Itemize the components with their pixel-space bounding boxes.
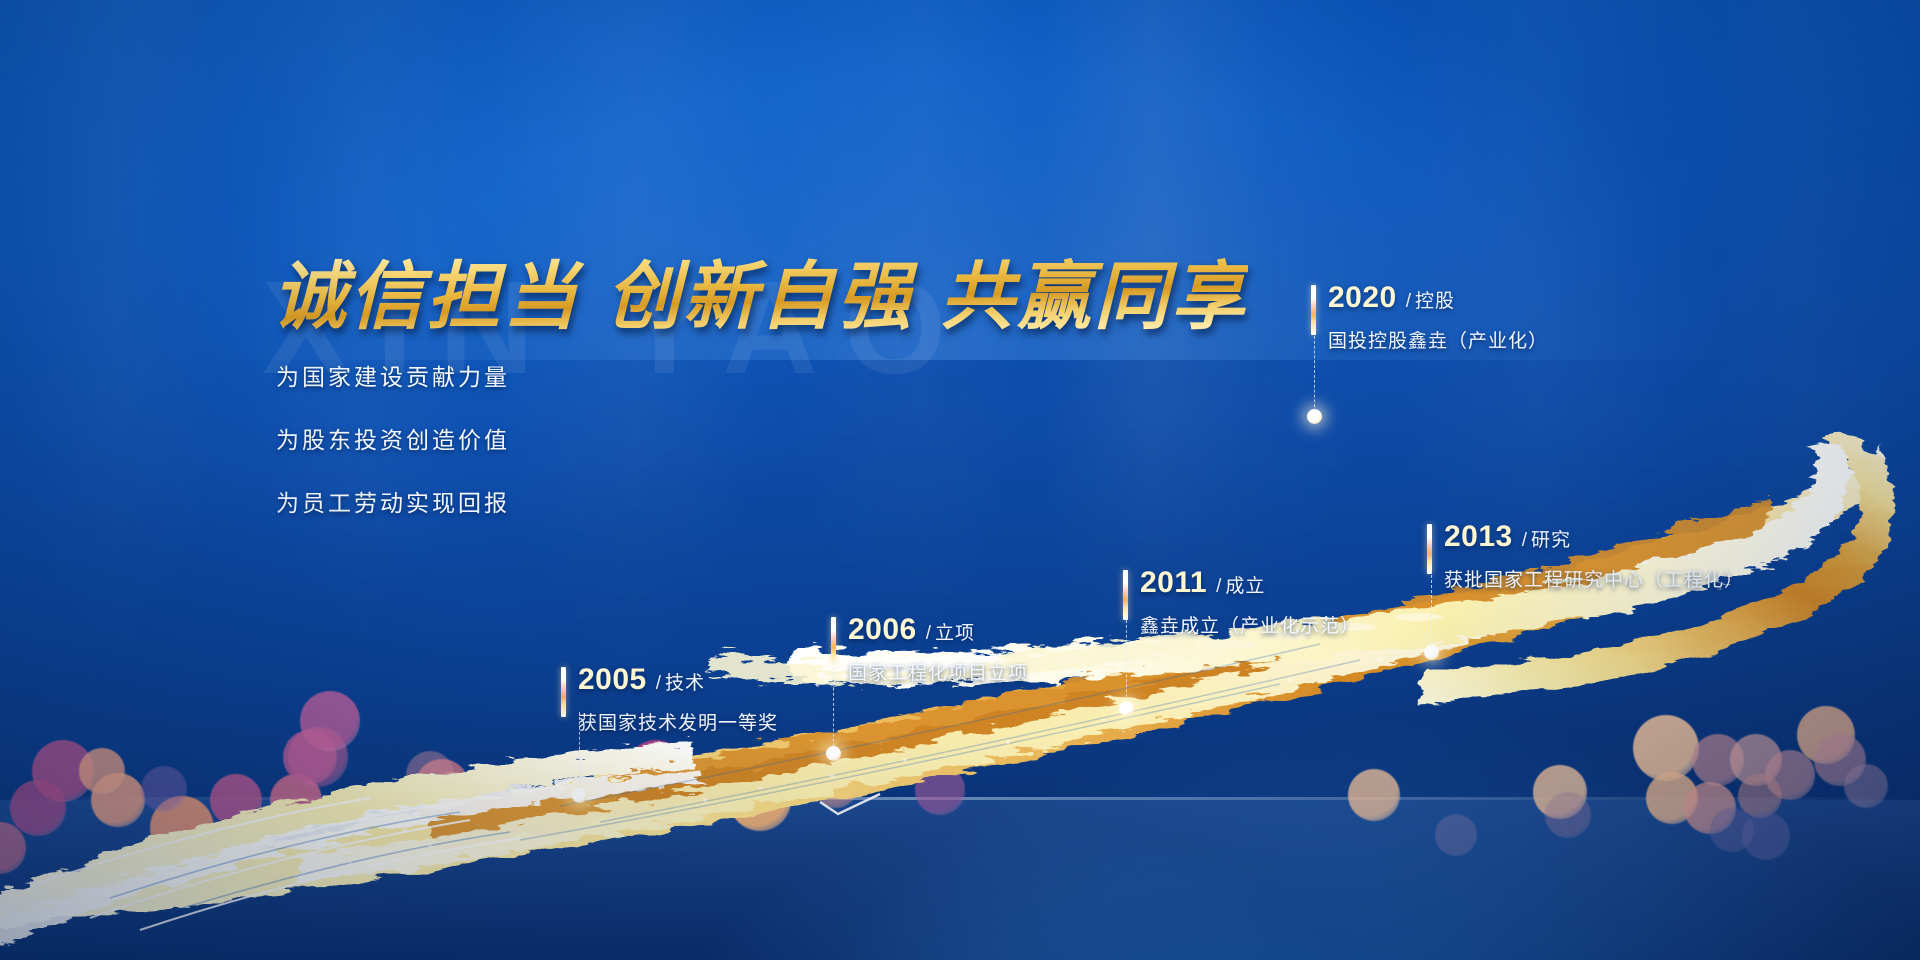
background-vignette bbox=[0, 0, 1920, 960]
poster-canvas: XIN YAO 诚信担当创新自强共赢同享 为国家建设贡献力量 为股东投资创造价值… bbox=[0, 0, 1920, 960]
